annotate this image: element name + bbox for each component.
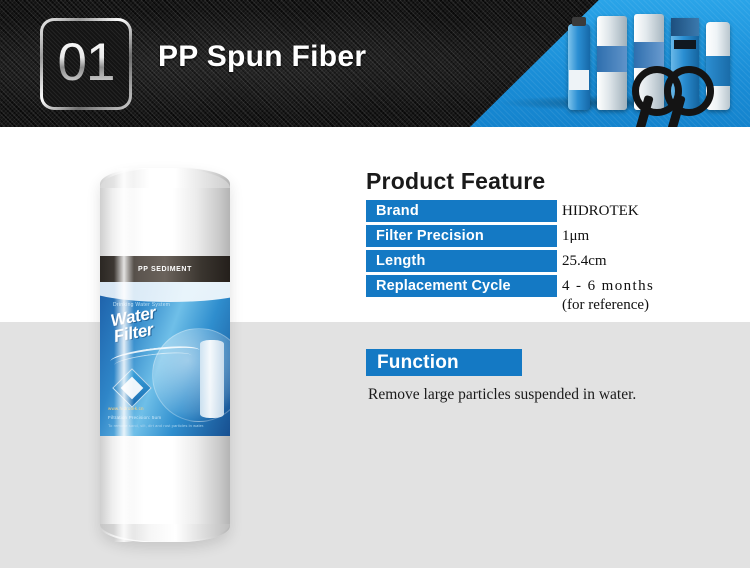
number-badge-inner: 01 — [43, 21, 129, 107]
label-cartridge-graphic — [200, 340, 224, 418]
header-number: 01 — [58, 36, 115, 92]
membrane-cap-icon — [572, 17, 586, 26]
membrane-label — [569, 70, 589, 90]
cartridge-bar — [674, 40, 696, 49]
table-row: Filter Precision 1μm — [366, 225, 696, 250]
product-photo: PP SEDIMENT Drinking Water System Water … — [100, 168, 230, 542]
label-header-band: PP SEDIMENT — [100, 256, 230, 282]
spec-key-replacement-cycle: Replacement Cycle — [366, 275, 557, 297]
filter-cartridges-photo — [564, 16, 744, 118]
spec-value-length: 25.4cm — [562, 250, 607, 272]
spec-value-brand: HIDROTEK — [562, 200, 639, 222]
label-title: Water Filter — [109, 305, 160, 344]
label-product-type: PP SEDIMENT — [138, 266, 192, 273]
number-badge-icon: 01 — [40, 18, 132, 110]
cartridge-top — [671, 18, 699, 36]
function-title-label: Function — [377, 352, 459, 374]
product-spec-page: 01 PP Spun Fiber PP SEDIMENT Drinking Wa… — [0, 0, 750, 568]
label-body: Drinking Water System Water Filter www.h… — [100, 282, 230, 436]
spec-note: (for reference) — [562, 297, 649, 314]
mini-cartridge-membrane — [568, 24, 590, 110]
spec-value-replacement-cycle: 4 - 6 months — [562, 275, 654, 297]
feature-section-title: Product Feature — [366, 168, 545, 195]
spec-value-filter-precision: 1μm — [562, 225, 589, 247]
page-header: 01 PP Spun Fiber — [0, 0, 750, 127]
cartridge-band — [634, 42, 664, 68]
table-row: Brand HIDROTEK — [366, 200, 696, 225]
spec-key-filter-precision: Filter Precision — [366, 225, 557, 247]
cartridge-bottom-cap — [100, 524, 230, 542]
function-description: Remove large particles suspended in wate… — [368, 385, 668, 406]
mini-cartridge-sediment — [597, 16, 627, 110]
filter-wrench-icon — [664, 66, 714, 116]
hidrotek-diamond-logo — [112, 368, 152, 408]
label-fineprint: To remove sand, silt, dirt and rust part… — [108, 423, 208, 429]
label-spec: Filtration Precision: 5um — [108, 415, 161, 420]
spec-key-brand: Brand — [366, 200, 557, 222]
cartridge-label: PP SEDIMENT Drinking Water System Water … — [100, 256, 230, 436]
wrench-ring — [664, 66, 714, 116]
label-url: www.hidrotek.cn — [108, 406, 144, 411]
spec-key-length: Length — [366, 250, 557, 272]
page-title: PP Spun Fiber — [158, 40, 366, 74]
spec-table: Brand HIDROTEK Filter Precision 1μm Leng… — [366, 200, 696, 300]
logo-inner — [121, 377, 144, 400]
label-curve-graphic — [100, 282, 230, 302]
table-row: Length 25.4cm — [366, 250, 696, 275]
function-section-title: Function — [366, 349, 522, 376]
cartridge-band — [597, 46, 627, 72]
